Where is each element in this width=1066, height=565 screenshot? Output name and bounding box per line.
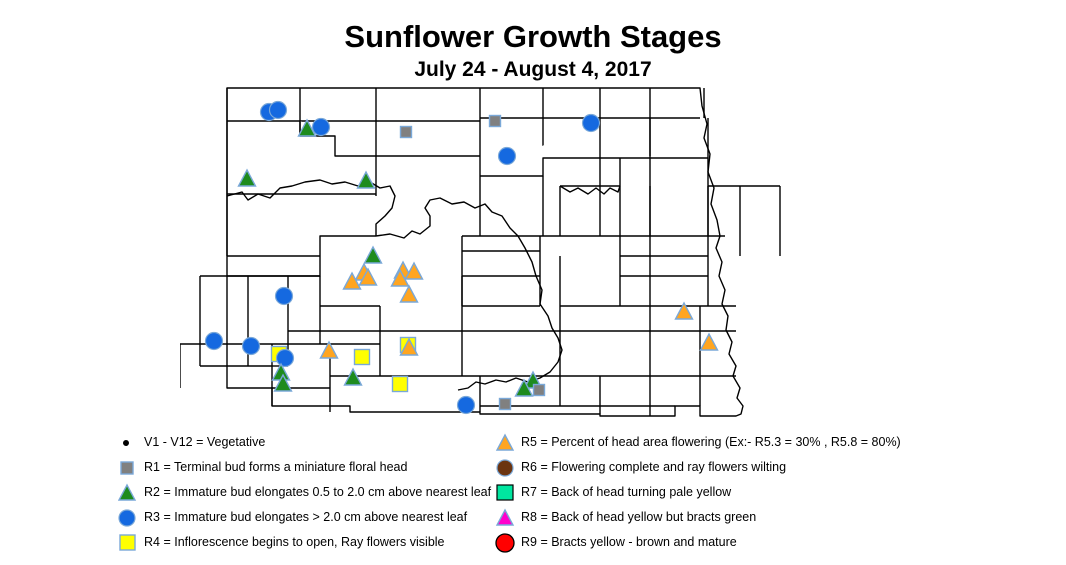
map-marker-r1 <box>500 399 511 410</box>
square-marker-springgreen-icon <box>495 480 521 505</box>
map-marker-r3 <box>270 102 287 119</box>
legend-label: R2 = Immature bud elongates 0.5 to 2.0 c… <box>144 480 491 505</box>
map-svg <box>180 76 800 428</box>
legend-item: R9 = Bracts yellow - brown and mature <box>495 530 925 555</box>
legend-label: R6 = Flowering complete and ray flowers … <box>521 455 786 480</box>
legend-item: V1 - V12 = Vegetative <box>118 430 518 455</box>
legend-label: R8 = Back of head yellow but bracts gree… <box>521 505 756 530</box>
square-marker-yellow-icon <box>118 530 144 555</box>
circle-marker-brown-icon <box>495 455 521 480</box>
map-marker-r3 <box>206 333 223 350</box>
circle-marker-red-icon <box>495 530 521 555</box>
north-dakota-county-map <box>180 76 800 428</box>
legend-item: R6 = Flowering complete and ray flowers … <box>495 455 925 480</box>
map-marker-r3 <box>458 397 475 414</box>
map-marker-r3 <box>277 350 294 367</box>
triangle-marker-green-icon <box>118 480 144 505</box>
triangle-marker-magenta-icon <box>495 505 521 530</box>
legend-right-column: R5 = Percent of head area flowering (Ex:… <box>495 430 925 555</box>
map-marker-r4 <box>355 350 370 365</box>
legend-item: R8 = Back of head yellow but bracts gree… <box>495 505 925 530</box>
legend-label: R5 = Percent of head area flowering (Ex:… <box>521 430 901 455</box>
map-marker-r3 <box>243 338 260 355</box>
legend-label: R3 = Immature bud elongates > 2.0 cm abo… <box>144 505 467 530</box>
legend-item: R5 = Percent of head area flowering (Ex:… <box>495 430 925 455</box>
map-marker-r1 <box>534 385 545 396</box>
legend-label: R4 = Inflorescence begins to open, Ray f… <box>144 530 445 555</box>
map-marker-r1 <box>401 127 412 138</box>
legend-label: R9 = Bracts yellow - brown and mature <box>521 530 737 555</box>
map-marker-r4 <box>393 377 408 392</box>
title-block: Sunflower Growth Stages July 24 - August… <box>0 18 1066 83</box>
legend-label: R7 = Back of head turning pale yellow <box>521 480 731 505</box>
triangle-marker-orange-icon <box>495 430 521 455</box>
page-title: Sunflower Growth Stages <box>0 18 1066 56</box>
sunflower-growth-stages-map-page: Sunflower Growth Stages July 24 - August… <box>0 0 1066 565</box>
dot-marker-black-icon <box>118 430 144 455</box>
legend-item: R1 = Terminal bud forms a miniature flor… <box>118 455 518 480</box>
county-borders <box>180 88 780 416</box>
map-marker-r3 <box>313 119 330 136</box>
legend-label: V1 - V12 = Vegetative <box>144 430 265 455</box>
legend-item: R4 = Inflorescence begins to open, Ray f… <box>118 530 518 555</box>
legend-item: R7 = Back of head turning pale yellow <box>495 480 925 505</box>
state-outline <box>227 88 743 416</box>
map-marker-r3 <box>276 288 293 305</box>
map-marker-r3 <box>499 148 516 165</box>
legend-item: R2 = Immature bud elongates 0.5 to 2.0 c… <box>118 480 518 505</box>
legend-item: R3 = Immature bud elongates > 2.0 cm abo… <box>118 505 518 530</box>
map-marker-r3 <box>583 115 600 132</box>
legend-label: R1 = Terminal bud forms a miniature flor… <box>144 455 407 480</box>
circle-marker-blue-icon <box>118 505 144 530</box>
square-marker-gray-icon <box>118 455 144 480</box>
map-marker-r1 <box>490 116 501 127</box>
legend-left-column: V1 - V12 = Vegetative R1 = Terminal bud … <box>118 430 518 555</box>
